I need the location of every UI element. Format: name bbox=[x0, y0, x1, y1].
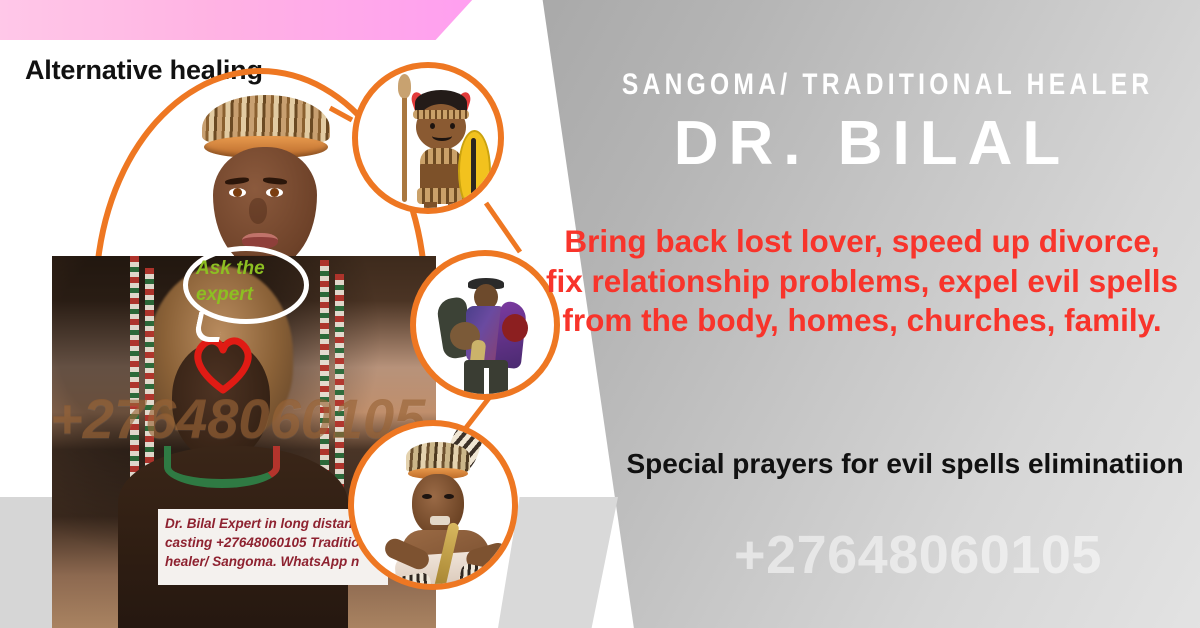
warrior-chest-pattern bbox=[420, 148, 462, 164]
sangoma-eye-left bbox=[422, 494, 432, 499]
spear-icon bbox=[402, 82, 407, 202]
bead-strand bbox=[130, 256, 139, 496]
shield-spine bbox=[471, 138, 476, 204]
healer-name: DR. BILAL bbox=[567, 108, 1177, 179]
bead-strand bbox=[335, 274, 344, 494]
caption-line-3: healer/ Sangoma. WhatsApp n bbox=[165, 552, 381, 571]
pupil-left bbox=[233, 188, 242, 197]
poster-canvas: Alternative healing bbox=[0, 0, 1200, 628]
speech-bubble-label: Ask the expert bbox=[196, 256, 306, 307]
sangoma-mouth bbox=[430, 516, 450, 525]
warrior-eye-right bbox=[450, 123, 455, 129]
warrior-smile bbox=[432, 131, 452, 141]
bead-strand bbox=[320, 260, 329, 500]
traveling-healer-illustration bbox=[410, 250, 560, 400]
watermark-phone-number: +27648060105 bbox=[640, 524, 1196, 586]
sangoma-eye-right bbox=[444, 494, 454, 499]
trouser-gap bbox=[484, 368, 489, 400]
warrior-leg-left bbox=[424, 202, 437, 214]
caption-line-2: casting +27648060105 Traditio bbox=[165, 533, 381, 552]
pupil-right bbox=[270, 188, 279, 197]
nose-shape bbox=[249, 198, 267, 224]
warrior-headband bbox=[413, 110, 469, 119]
crouching-sangoma-illustration bbox=[348, 420, 518, 590]
heart-icon bbox=[190, 334, 256, 394]
warrior-eye-left bbox=[430, 123, 435, 129]
services-description: Bring back lost lover, speed up divorce,… bbox=[542, 222, 1182, 341]
photo-phone-overlay: +27648060105 bbox=[50, 386, 425, 451]
spear-tip-icon bbox=[398, 74, 411, 98]
beaded-necklace-icon bbox=[164, 446, 280, 488]
special-offer-text: Special prayers for evil spells eliminat… bbox=[622, 446, 1188, 482]
red-bundle-icon bbox=[502, 314, 528, 342]
zulu-warrior-illustration bbox=[352, 62, 504, 214]
headline-kicker: SANGOMA/ TRADITIONAL HEALER bbox=[622, 68, 1122, 102]
